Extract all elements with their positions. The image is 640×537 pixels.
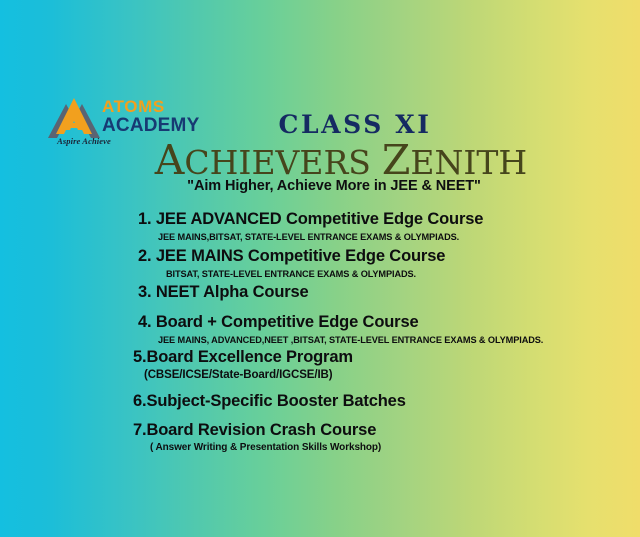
program-title-word2-rest: ENITH	[410, 143, 527, 182]
course-title: 7.Board Revision Crash Course	[133, 421, 376, 440]
course-poster: ATOMS ACADEMY Aspire Achieve CLASS XI AC…	[0, 0, 640, 537]
course-title: 5.Board Excellence Program	[133, 348, 353, 367]
program-title: ACHIEVERSZENITH	[0, 140, 640, 181]
course-title: 2. JEE MAINS Competitive Edge Course	[138, 247, 445, 266]
course-title: 3. NEET Alpha Course	[138, 283, 309, 302]
course-subtitle: JEE MAINS, ADVANCED,NEET ,BITSAT, STATE-…	[158, 335, 543, 345]
program-title-word1-rest: CHIEVERS	[184, 143, 371, 182]
program-title-word2-cap: Z	[382, 136, 411, 184]
class-title: CLASS XI	[0, 110, 640, 139]
course-title: 6.Subject-Specific Booster Batches	[133, 392, 406, 411]
course-subtitle: JEE MAINS,BITSAT, STATE-LEVEL ENTRANCE E…	[158, 232, 459, 242]
course-title: 1. JEE ADVANCED Competitive Edge Course	[138, 210, 483, 229]
course-subtitle: BITSAT, STATE-LEVEL ENTRANCE EXAMS & OLY…	[166, 269, 416, 279]
poster-tagline: "Aim Higher, Achieve More in JEE & NEET"	[0, 178, 640, 194]
course-subtitle: ( Answer Writing & Presentation Skills W…	[150, 442, 381, 453]
course-title: 4. Board + Competitive Edge Course	[138, 313, 419, 332]
program-title-word1-cap: A	[155, 136, 185, 184]
course-subtitle: (CBSE/ICSE/State-Board/IGCSE/IB)	[144, 369, 333, 381]
